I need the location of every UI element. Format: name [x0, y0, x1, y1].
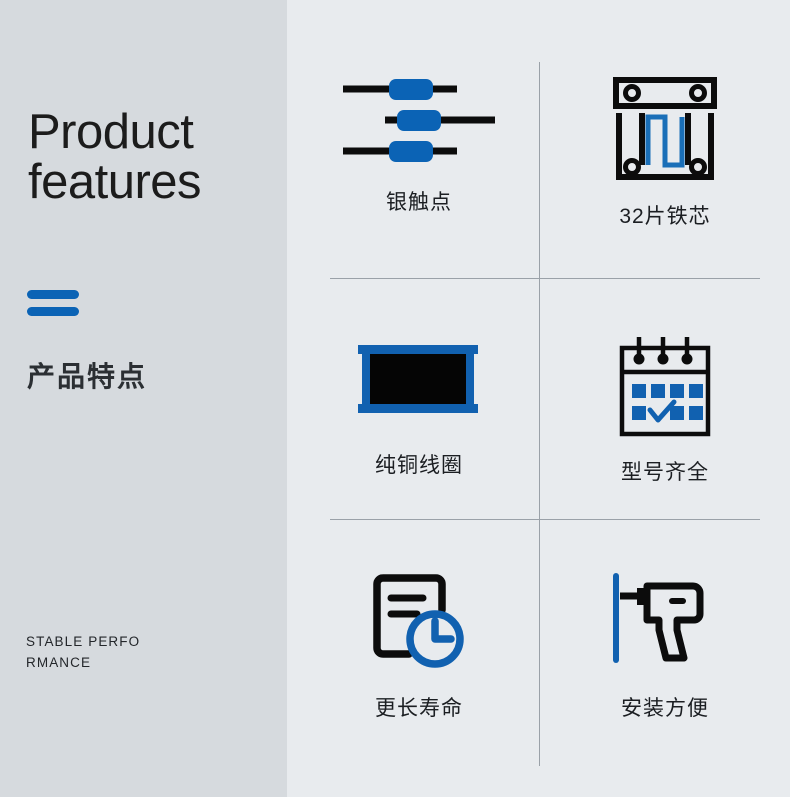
headline-line-1: Product — [28, 105, 193, 159]
copper-coil-bobbin-icon — [358, 316, 480, 441]
tagline-line-2: RMANCE — [26, 655, 91, 670]
headline-line-2: features — [28, 158, 288, 208]
mark-bar-top — [27, 290, 79, 299]
feature-cell-iron-core: 32片铁芯 — [545, 60, 785, 280]
tagline: STABLE PERFO RMANCE — [26, 632, 176, 674]
infographic-canvas: Product features 产品特点 STABLE PERFO RMANC… — [0, 0, 790, 806]
feature-caption: 银触点 — [386, 186, 452, 216]
tagline-line-1: STABLE PERFO — [26, 634, 140, 649]
feature-cell-silver-contacts: 银触点 — [299, 60, 539, 280]
feature-caption: 纯铜线圈 — [375, 449, 463, 479]
grid-divider-vertical — [539, 62, 540, 766]
equals-bars-mark-icon — [27, 290, 79, 320]
feature-caption: 安装方便 — [621, 692, 709, 722]
feature-caption: 32片铁芯 — [619, 200, 710, 230]
transformer-core-icon — [612, 60, 718, 200]
feature-cell-copper-coil: 纯铜线圈 — [299, 316, 539, 536]
feature-caption: 更长寿命 — [375, 692, 463, 722]
calendar-check-grid-icon — [613, 316, 717, 456]
feature-cell-longer-lifespan: 更长寿命 — [299, 552, 539, 772]
mark-bar-bottom — [27, 307, 79, 316]
bottom-white-strip — [0, 797, 790, 806]
power-drill-icon — [611, 552, 719, 692]
page-subtitle: 产品特点 — [27, 355, 147, 395]
page-title: Product features — [28, 108, 288, 208]
feature-caption: 型号齐全 — [621, 456, 709, 486]
document-clock-icon — [369, 552, 469, 692]
feature-cell-easy-installation: 安装方便 — [545, 552, 785, 772]
feature-cell-model-range: 型号齐全 — [545, 316, 785, 536]
contacts-three-lines-icon — [339, 60, 499, 180]
